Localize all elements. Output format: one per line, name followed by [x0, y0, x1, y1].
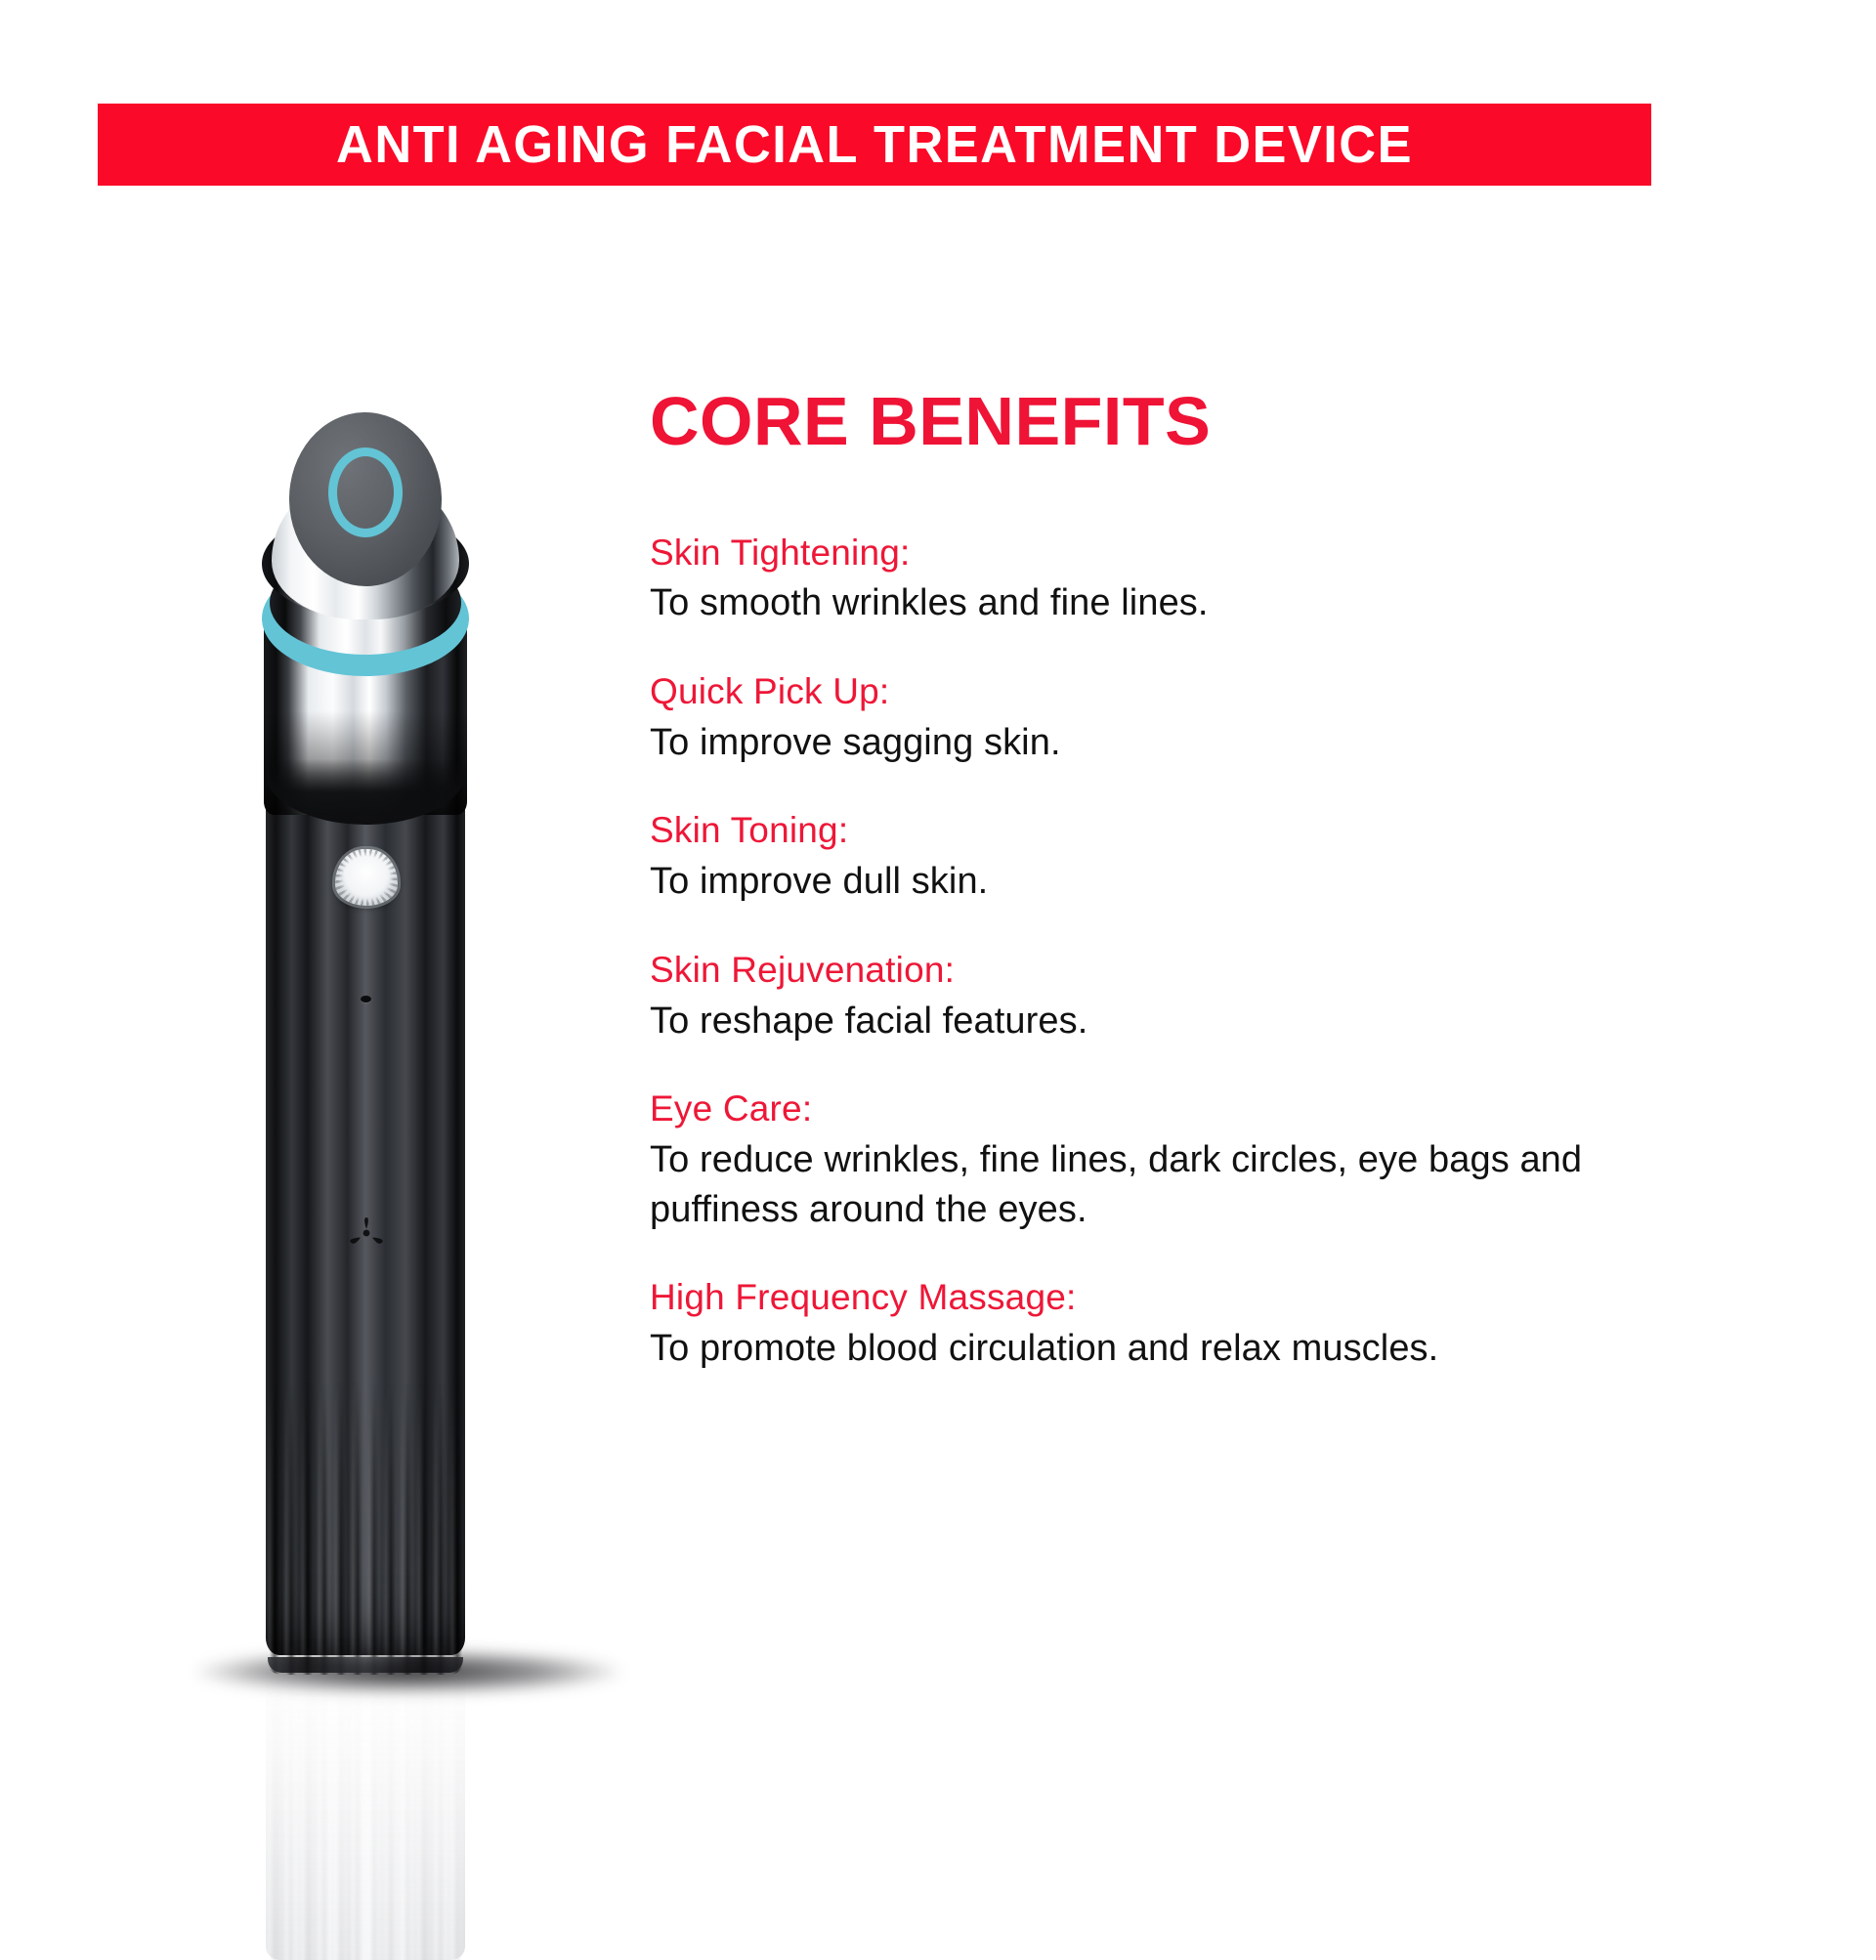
- infographic-canvas: ANTI AGING FACIAL TREATMENT DEVICE: [0, 0, 1876, 1876]
- cyan-indicator-ring-icon: [328, 447, 403, 537]
- device-chrome-collar-curve: [264, 715, 467, 825]
- device-fluted-base: [266, 1382, 465, 1675]
- benefit-body: To improve dull skin.: [650, 857, 1593, 907]
- device-illustration: [242, 405, 487, 1675]
- benefit-item-skin-rejuvenation: Skin Rejuvenation: To reshape facial fea…: [650, 946, 1637, 1045]
- device-mirror-reflection: [242, 1667, 487, 1960]
- benefit-heading: Skin Rejuvenation:: [650, 946, 1637, 995]
- product-image: [166, 391, 655, 1837]
- benefit-body: To improve sagging skin.: [650, 718, 1593, 768]
- benefit-item-high-frequency-massage: High Frequency Massage: To promote blood…: [650, 1273, 1637, 1373]
- benefit-body: To promote blood circulation and relax m…: [650, 1324, 1593, 1374]
- tri-blade-brand-mark-icon: [347, 1215, 386, 1249]
- benefit-body: To reduce wrinkles, fine lines, dark cir…: [650, 1135, 1593, 1234]
- page-title: CORE BENEFITS: [650, 386, 1637, 458]
- reflection-flutes: [266, 1667, 465, 1960]
- benefit-item-skin-toning: Skin Toning: To improve dull skin.: [650, 806, 1637, 906]
- benefit-item-quick-pick-up: Quick Pick Up: To improve sagging skin.: [650, 667, 1637, 767]
- core-benefits-panel: CORE BENEFITS Skin Tightening: To smooth…: [650, 386, 1637, 1374]
- benefit-body: To smooth wrinkles and fine lines.: [650, 578, 1593, 628]
- benefit-heading: Skin Toning:: [650, 806, 1637, 855]
- benefit-heading: Quick Pick Up:: [650, 667, 1637, 716]
- benefit-item-skin-tightening: Skin Tightening: To smooth wrinkles and …: [650, 529, 1637, 628]
- header-banner: ANTI AGING FACIAL TREATMENT DEVICE: [98, 104, 1651, 186]
- benefit-heading: High Frequency Massage:: [650, 1273, 1637, 1322]
- led-indicator: [361, 996, 371, 1002]
- benefit-heading: Skin Tightening:: [650, 529, 1637, 577]
- power-button-texture: [335, 849, 398, 906]
- benefit-item-eye-care: Eye Care: To reduce wrinkles, fine lines…: [650, 1085, 1637, 1234]
- banner-title: ANTI AGING FACIAL TREATMENT DEVICE: [336, 118, 1413, 171]
- benefit-heading: Eye Care:: [650, 1085, 1637, 1133]
- benefit-body: To reshape facial features.: [650, 997, 1593, 1046]
